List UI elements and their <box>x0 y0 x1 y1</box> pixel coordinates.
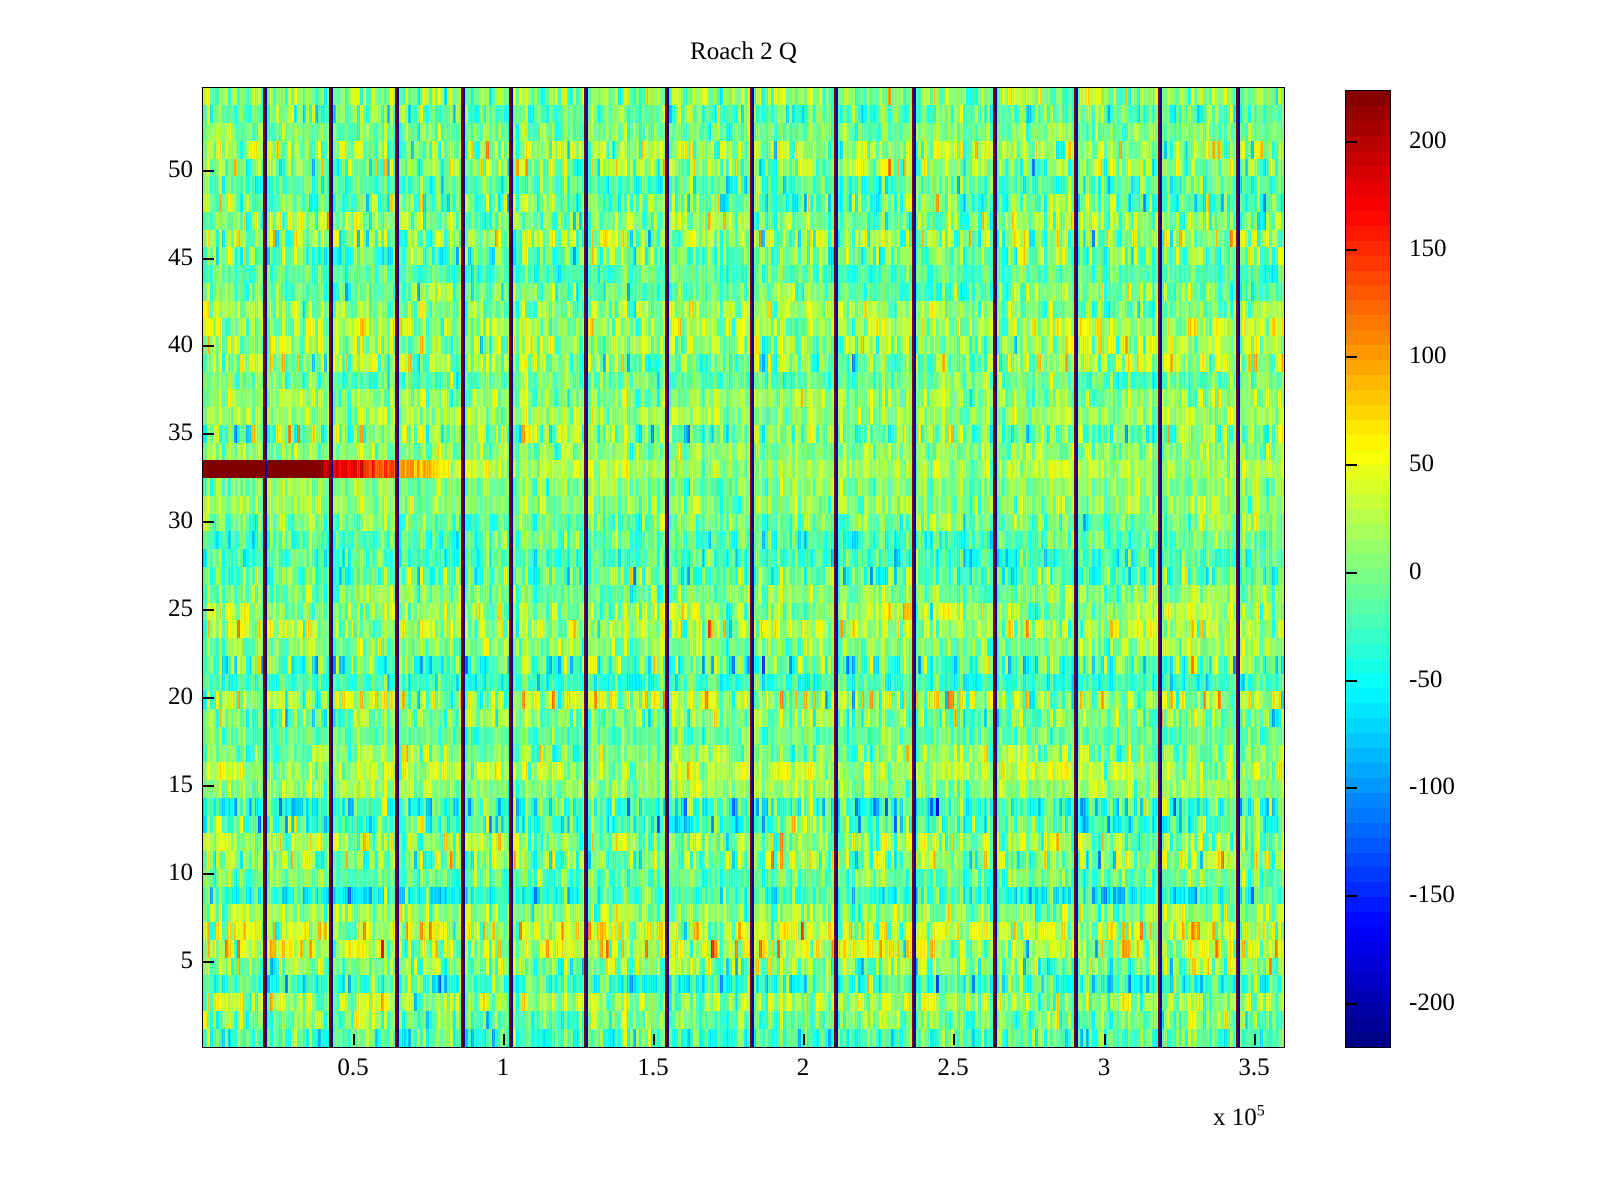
colorbar[interactable] <box>1345 90 1391 1048</box>
colorbar-tick-label-neg50: -50 <box>1409 667 1442 692</box>
x-exponent-power: 5 <box>1257 1103 1265 1120</box>
colorbar-tick-label-150: 150 <box>1409 236 1447 261</box>
x-tick-label-2.5: 2.5 <box>937 1055 968 1080</box>
chart-title: Roach 2 Q <box>0 38 1487 66</box>
y-tick-mark-25 <box>203 609 214 611</box>
x-axis-exponent-label: x 105 <box>1213 1104 1265 1131</box>
x-tick-label-1.5: 1.5 <box>637 1055 668 1080</box>
colorbar-tick-label-200: 200 <box>1409 128 1447 153</box>
y-tick-label-25: 25 <box>168 596 193 621</box>
colorbar-tick-label-100: 100 <box>1409 343 1447 368</box>
x-tick-mark-2.5 <box>953 1034 955 1045</box>
x-tick-label-2: 2 <box>797 1055 810 1080</box>
y-tick-label-35: 35 <box>168 420 193 445</box>
y-tick-label-45: 45 <box>168 245 193 270</box>
heatmap-axes[interactable] <box>202 87 1285 1048</box>
figure-canvas: Roach 2 Q 5045403530252015105 0.511.522.… <box>0 0 1600 1200</box>
y-tick-mark-40 <box>203 345 214 347</box>
y-tick-label-10: 10 <box>168 860 193 885</box>
x-tick-label-1: 1 <box>497 1055 510 1080</box>
x-tick-mark-1.5 <box>653 1034 655 1045</box>
y-tick-label-40: 40 <box>168 332 193 357</box>
colorbar-tick-label-0: 0 <box>1409 559 1422 584</box>
x-tick-label-3: 3 <box>1098 1055 1111 1080</box>
y-tick-label-30: 30 <box>168 508 193 533</box>
x-tick-mark-3 <box>1104 1034 1106 1045</box>
colorbar-gradient <box>1346 91 1390 1047</box>
colorbar-tick-label-neg200: -200 <box>1409 990 1455 1015</box>
x-tick-mark-3.5 <box>1254 1034 1256 1045</box>
y-tick-mark-45 <box>203 258 214 260</box>
colorbar-tick-mark-50 <box>1346 464 1357 466</box>
colorbar-tick-mark-neg50 <box>1346 680 1357 682</box>
y-tick-mark-5 <box>203 961 214 963</box>
y-tick-label-15: 15 <box>168 772 193 797</box>
y-tick-label-5: 5 <box>181 948 194 973</box>
x-tick-label-0.5: 0.5 <box>337 1055 368 1080</box>
y-tick-mark-20 <box>203 697 214 699</box>
colorbar-tick-mark-0 <box>1346 572 1357 574</box>
colorbar-tick-mark-neg150 <box>1346 895 1357 897</box>
heatmap-image[interactable] <box>203 88 1284 1047</box>
colorbar-tick-mark-neg100 <box>1346 787 1357 789</box>
colorbar-tick-label-neg100: -100 <box>1409 774 1455 799</box>
colorbar-tick-mark-200 <box>1346 141 1357 143</box>
colorbar-tick-mark-100 <box>1346 356 1357 358</box>
y-tick-label-20: 20 <box>168 684 193 709</box>
y-tick-mark-30 <box>203 521 214 523</box>
y-tick-mark-15 <box>203 785 214 787</box>
y-tick-label-50: 50 <box>168 157 193 182</box>
colorbar-tick-mark-neg200 <box>1346 1003 1357 1005</box>
colorbar-tick-label-neg150: -150 <box>1409 882 1455 907</box>
x-exponent-mantissa: x 10 <box>1213 1104 1257 1131</box>
y-tick-mark-35 <box>203 433 214 435</box>
colorbar-tick-mark-150 <box>1346 249 1357 251</box>
y-tick-mark-10 <box>203 873 214 875</box>
colorbar-tick-label-50: 50 <box>1409 451 1434 476</box>
x-tick-label-3.5: 3.5 <box>1238 1055 1269 1080</box>
x-tick-mark-2 <box>803 1034 805 1045</box>
x-tick-mark-1 <box>503 1034 505 1045</box>
x-tick-mark-0.5 <box>353 1034 355 1045</box>
y-tick-mark-50 <box>203 170 214 172</box>
